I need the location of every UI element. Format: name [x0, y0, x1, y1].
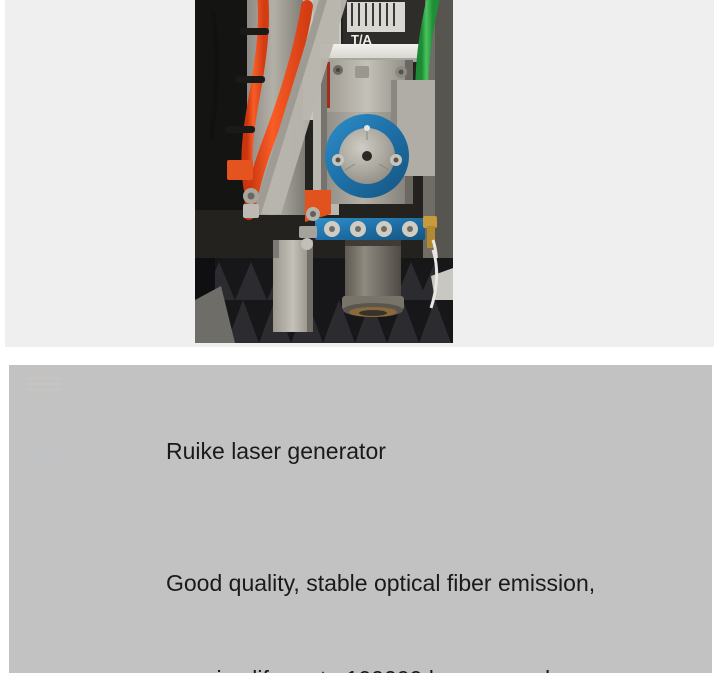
description-heading: Ruike laser generator	[166, 437, 386, 465]
description-line: Good quality, stable optical fiber emiss…	[166, 567, 595, 599]
product-description-panel: Ruike laser generator Good quality, stab…	[9, 365, 712, 673]
product-photo: T/A	[195, 0, 453, 343]
description-body: Good quality, stable optical fiber emiss…	[166, 503, 595, 673]
scan-artifact-band	[28, 375, 60, 467]
product-image-panel: T/A	[5, 0, 714, 347]
laser-cutting-head-photo: T/A	[195, 0, 453, 343]
description-line: service life up to 100000 hours, good	[166, 663, 595, 673]
